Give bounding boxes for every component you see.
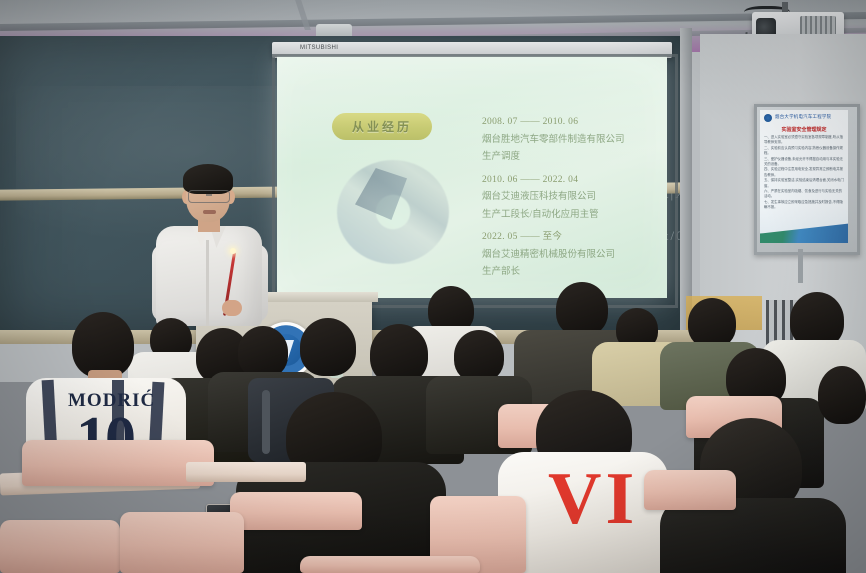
notice-line: 六、严禁在实验室内吸烟、饮食及进行与实验无关的活动。: [764, 189, 844, 200]
student-head: [688, 298, 736, 348]
speaker-mouth: [203, 210, 216, 214]
speaker-hand: [222, 300, 242, 316]
desk-surface: [186, 462, 306, 482]
entry-company: 烟台胜地汽车零部件制造有限公司: [482, 132, 647, 150]
notice-body-text: 一、进入实验室必须遵守实验室各项规章制度,听从指导教师安排。 二、实验前应认真预…: [764, 135, 844, 211]
backpack-strap: [262, 390, 270, 454]
entry-company: 烟台艾迪液压科技有限公司: [482, 189, 647, 207]
chair-back: [230, 492, 362, 530]
notice-line: 三、爱护仪器设备,未经允许不得擅自动用与本实验无关的设备。: [764, 157, 844, 168]
entry-role: 生产工段长/自动化应用主管: [482, 207, 647, 225]
notice-org-name: 烟台大学机电汽车工程学院: [775, 114, 831, 120]
slide-section-badge: 从业经历: [332, 113, 432, 140]
entry-period: 2010. 06 —— 2022. 04: [482, 172, 647, 190]
chair-back: [300, 556, 480, 573]
screen-brand-label: MITSUBISHI: [300, 45, 338, 51]
experience-entry: 2008. 07 —— 2010. 06 烟台胜地汽车零部件制造有限公司 生产调…: [482, 114, 647, 167]
slide-experience-list: 2008. 07 —— 2010. 06 烟台胜地汽车零部件制造有限公司 生产调…: [482, 114, 647, 287]
speaker-shirt: [156, 226, 262, 326]
speaker-glasses-icon: [188, 190, 230, 203]
notice-line: 四、实验过程中注意用电安全,发现异常立即断电并报告教师。: [764, 167, 844, 178]
classroom-photo-scene: x|X| x/0 烟台大学机电汽车工程学院 实验室安全管理规定 一、进入实验室必…: [0, 0, 866, 573]
university-logo-icon: [764, 114, 772, 122]
chair-back: [120, 512, 244, 573]
entry-period: 2022. 05 —— 至今: [482, 229, 647, 247]
experience-entry: 2010. 06 —— 2022. 04 烟台艾迪液压科技有限公司 生产工段长/…: [482, 172, 647, 225]
experience-entry: 2022. 05 —— 至今 烟台艾迪精密机械股份有限公司 生产部长: [482, 229, 647, 282]
notice-line: 一、进入实验室必须遵守实验室各项规章制度,听从指导教师安排。: [764, 135, 844, 146]
student-head: [238, 326, 288, 378]
chair-back: [0, 520, 120, 573]
student-head: [818, 366, 866, 424]
student-head: [454, 330, 504, 382]
entry-company: 烟台艾迪精密机械股份有限公司: [482, 247, 647, 265]
notice-title: 实验室安全管理规定: [760, 126, 848, 133]
notice-line: 七、发生事故应立即采取应急措施并及时报告,不得隐瞒不报。: [764, 200, 844, 211]
entry-role: 生产调度: [482, 149, 647, 167]
student-head: [556, 282, 608, 336]
laser-pointer-light-icon: [230, 248, 236, 254]
chair-back: [644, 470, 736, 510]
student-head: [72, 312, 134, 378]
notice-board-pole: [798, 249, 803, 283]
student-head: [370, 324, 428, 384]
notice-line: 二、实验前应认真预习实验内容,熟悉仪器设备操作规程。: [764, 146, 844, 157]
speaker-glasses-bridge: [206, 194, 212, 196]
speaker-shirt-placket: [206, 240, 209, 326]
student-head: [300, 318, 356, 376]
entry-role: 生产部长: [482, 264, 647, 282]
notice-line: 五、保持实验室整洁,实验结束后清理台面,关闭水电门窗。: [764, 178, 844, 189]
jersey-letters: VI: [548, 462, 638, 536]
entry-period: 2008. 07 —— 2010. 06: [482, 114, 647, 132]
